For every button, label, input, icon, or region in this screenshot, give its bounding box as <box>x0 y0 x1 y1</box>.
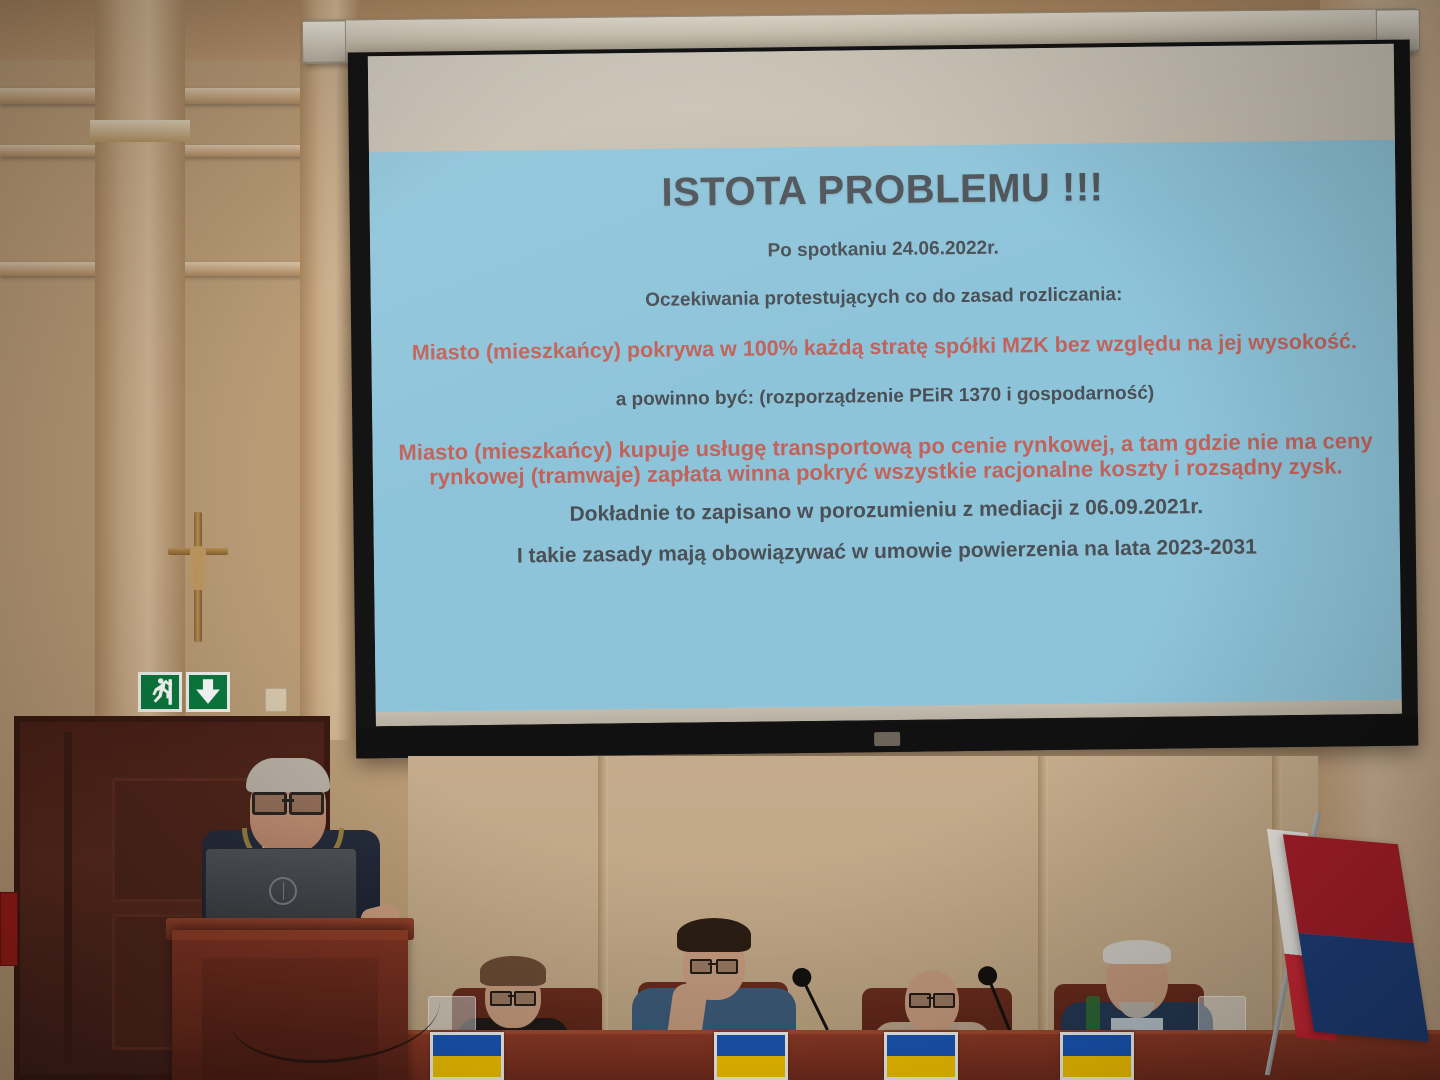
city-flag-red-band <box>1283 834 1414 943</box>
panelist-3-glasses <box>909 993 955 1004</box>
ukraine-flag-card-3 <box>884 1032 958 1080</box>
speaker-glasses <box>252 792 324 809</box>
water-bottle[interactable] <box>1086 996 1100 1030</box>
slide-note-1: Dokładnie to zapisano w porozumieniu z m… <box>395 492 1377 530</box>
screen-surface: ISTOTA PROBLEMU !!! Po spotkaniu 24.06.2… <box>368 44 1402 726</box>
wall-divider-2 <box>1038 756 1048 1056</box>
emergency-exit-signs <box>138 672 230 712</box>
ukraine-flag-card-2 <box>714 1032 788 1080</box>
emergency-exit-down-arrow-icon <box>186 672 230 712</box>
slide-claim: Miasto (mieszkańcy) pokrywa w 100% każdą… <box>393 329 1375 366</box>
slide-subtitle: Po spotkaniu 24.06.2022r. <box>392 233 1374 267</box>
projection-screen: ISTOTA PROBLEMU !!! Po spotkaniu 24.06.2… <box>348 40 1419 759</box>
city-flag-blue-band <box>1299 933 1430 1042</box>
emergency-exit-running-man-icon <box>138 672 182 712</box>
screen-blank-top <box>368 44 1395 153</box>
crucifix <box>168 512 228 642</box>
screen-housing-bracket-left <box>302 20 346 62</box>
wall-socket <box>265 688 287 712</box>
water-glass-right[interactable] <box>1198 996 1246 1032</box>
presentation-room-photo: ISTOTA PROBLEMU !!! Po spotkaniu 24.06.2… <box>0 0 1440 1080</box>
crucifix-figure <box>190 546 206 590</box>
hp-logo-icon <box>269 877 297 905</box>
panelist-1-glasses <box>490 991 536 1002</box>
table-front <box>408 1030 1440 1080</box>
slide-note-2: I takie zasady mają obowiązywać w umowie… <box>396 533 1378 571</box>
slide-counter-claim: Miasto (mieszkańcy) kupuje usługę transp… <box>394 428 1377 491</box>
slide-lead-in: Oczekiwania protestujących co do zasad r… <box>393 281 1375 315</box>
fire-alarm-box[interactable] <box>0 892 18 966</box>
panelist-2-hair <box>677 918 751 952</box>
door-stile <box>64 732 72 1064</box>
slide-content: ISTOTA PROBLEMU !!! Po spotkaniu 24.06.2… <box>369 140 1402 712</box>
pilaster-capital <box>90 120 190 142</box>
speaker-hair <box>246 758 330 792</box>
slide-title: ISTOTA PROBLEMU !!! <box>391 162 1373 219</box>
panelist-2-glasses <box>690 959 738 970</box>
panelist-1-hair <box>480 956 546 986</box>
ukraine-flag-card-4 <box>1060 1032 1134 1080</box>
ukraine-flag-card-1 <box>430 1032 504 1080</box>
screen-pull-tab <box>874 732 900 746</box>
slide-counter-label: a powinno być: (rozporządzenie PEiR 1370… <box>394 380 1376 414</box>
panelist-4-hair <box>1103 940 1171 964</box>
